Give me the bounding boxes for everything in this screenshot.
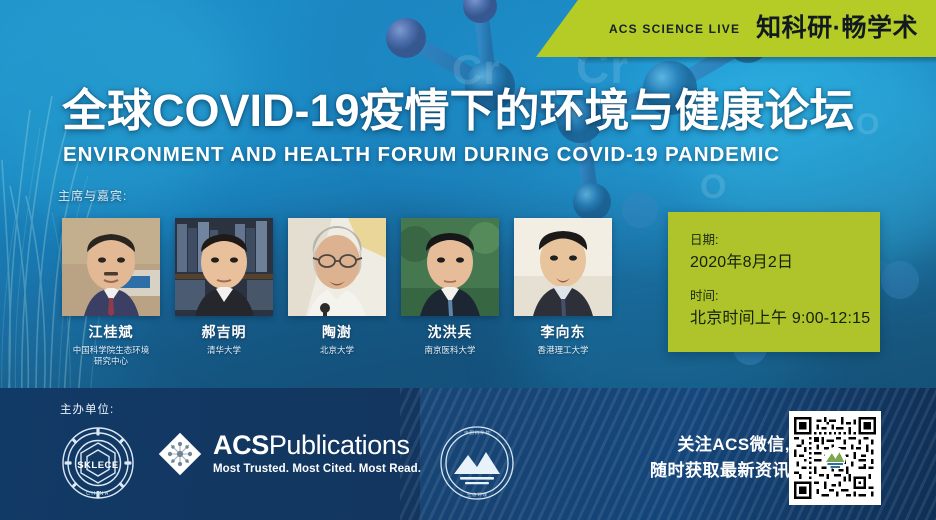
svg-text:生 态 环 境: 生 态 环 境 [467, 491, 487, 498]
speaker-photo [62, 218, 160, 316]
speaker-card: 李向东 香港理工大学 [514, 218, 612, 368]
qr-code-icon [794, 416, 876, 500]
host-label: 主办单位: [60, 401, 114, 417]
portrait-icon [514, 218, 612, 316]
banner-shadow [578, 57, 936, 64]
acs-logo-text: Publications [269, 430, 410, 460]
svg-text:中 国 科 学 院: 中 国 科 学 院 [464, 429, 490, 436]
acs-logo-bold-text: ACS [213, 430, 269, 460]
speaker-affiliation: 中国科学院生态环境 研究中心 [73, 345, 150, 368]
speaker-photo [288, 218, 386, 316]
speaker-name: 沈洪兵 [428, 325, 473, 339]
portrait-icon [62, 218, 160, 316]
speaker-name: 江桂斌 [89, 325, 134, 339]
portrait-icon [175, 218, 273, 316]
sklece-logo-icon: SKLECE CHINA [60, 424, 136, 502]
wechat-line-1: 关注ACS微信, [640, 432, 790, 458]
svg-text:CHINA: CHINA [86, 491, 110, 497]
page-title-chinese: 全球COVID-19疫情下的环境与健康论坛 [62, 88, 855, 133]
acs-publications-logo: ACSPublications Most Trusted. Most Cited… [156, 430, 421, 478]
university-seal-icon: 中 国 科 学 院 生 态 环 境 [438, 424, 516, 502]
date-label: 日期: [690, 234, 880, 248]
svg-text:SKLECE: SKLECE [77, 460, 119, 471]
acs-science-live-banner: ACS SCIENCE LIVE 知科研·畅学术 [536, 0, 936, 57]
schedule-box: 日期: 2020年8月2日 时间: 北京时间上午 9:00-12:15 [668, 212, 880, 352]
speakers-section-label: 主席与嘉宾: [58, 187, 127, 204]
speaker-card: 郝吉明 清华大学 [175, 218, 273, 368]
speaker-affiliation: 南京医科大学 [424, 345, 475, 356]
speaker-name: 李向东 [541, 325, 586, 339]
speaker-name: 郝吉明 [202, 325, 247, 339]
portrait-icon [288, 218, 386, 316]
speaker-name: 陶澍 [322, 325, 352, 339]
speaker-photo [401, 218, 499, 316]
page-title-english: ENVIRONMENT AND HEALTH FORUM DURING COVI… [63, 145, 780, 166]
speaker-photo [175, 218, 273, 316]
wechat-callout: 关注ACS微信, 随时获取最新资讯 [640, 432, 790, 483]
portrait-icon [401, 218, 499, 316]
speaker-affiliation: 香港理工大学 [537, 345, 588, 356]
wechat-line-2: 随时获取最新资讯 [640, 458, 790, 484]
ghost-symbol-o-2: O [856, 108, 880, 142]
banner-eyebrow-text: ACS SCIENCE LIVE [609, 22, 740, 36]
date-value: 2020年8月2日 [690, 254, 880, 272]
time-label: 时间: [690, 290, 880, 304]
acs-diamond-icon [156, 430, 204, 478]
wechat-qr-code[interactable] [789, 411, 881, 505]
speaker-photo [514, 218, 612, 316]
time-value: 北京时间上午 9:00-12:15 [690, 310, 880, 328]
speaker-affiliation: 清华大学 [207, 345, 241, 356]
ghost-symbol-o-1: O [700, 168, 727, 207]
speaker-card: 沈洪兵 南京医科大学 [401, 218, 499, 368]
acs-tagline: Most Trusted. Most Cited. Most Read. [213, 464, 421, 476]
speaker-affiliation: 北京大学 [320, 345, 354, 356]
poster-canvas: Cr Cr O O ACS SCIENCE LIVE 知科研·畅学术 全球COV… [0, 0, 936, 520]
speakers-list: 江桂斌 中国科学院生态环境 研究中心 [62, 218, 612, 368]
banner-brand-text: 知科研·畅学术 [756, 16, 918, 41]
speaker-card: 江桂斌 中国科学院生态环境 研究中心 [62, 218, 160, 368]
speaker-card: 陶澍 北京大学 [288, 218, 386, 368]
